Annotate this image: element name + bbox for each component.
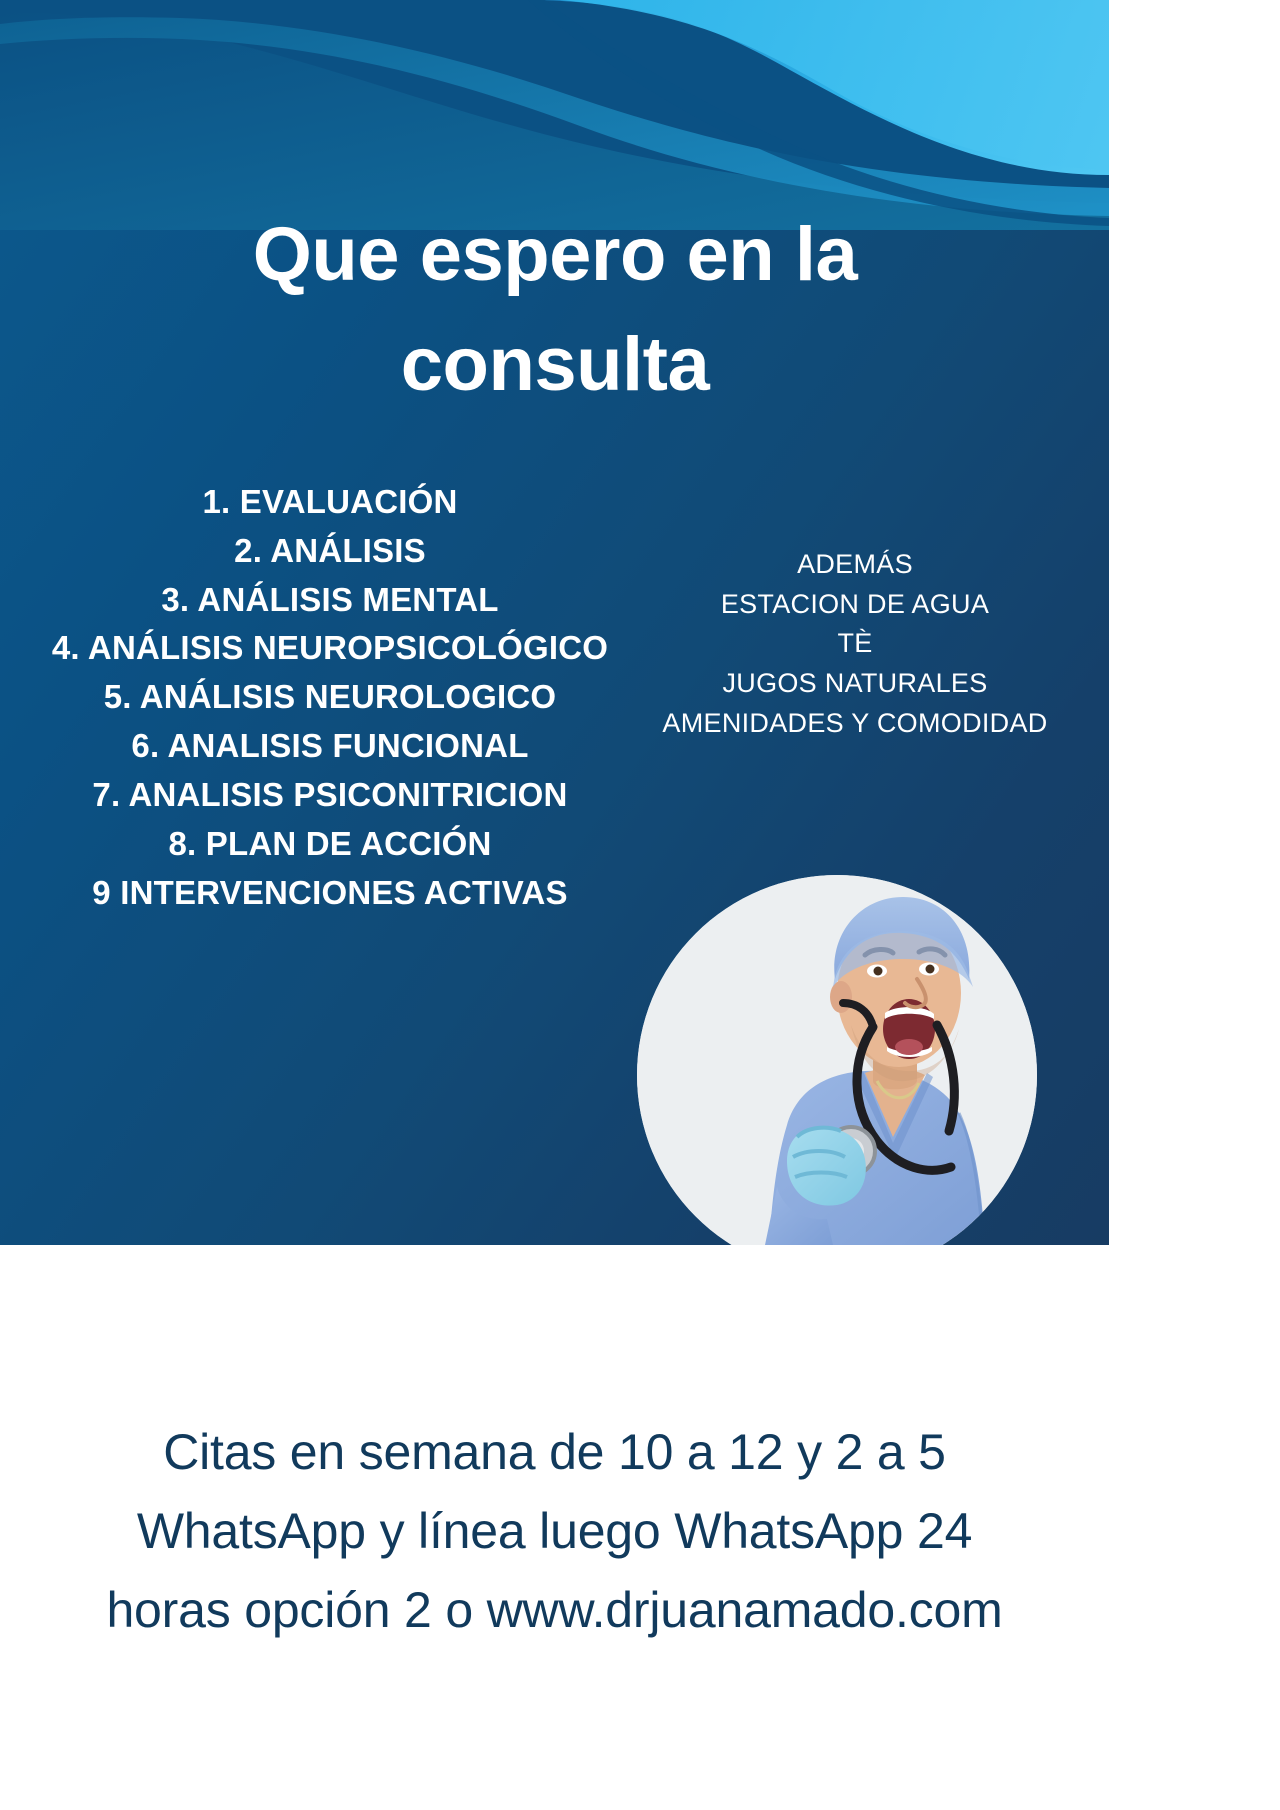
step-item: 8. PLAN DE ACCIÓN [0,820,660,869]
blue-background-panel: Que espero en la consulta 1. EVALUACIÓN … [0,0,1109,1245]
contact-line-1: Citas en semana de 10 a 12 y 2 a 5 [30,1413,1079,1492]
extras-item: ESTACION DE AGUA [620,585,1090,625]
step-item: 4. ANÁLISIS NEUROPSICOLÓGICO [0,624,660,673]
consultation-steps-list: 1. EVALUACIÓN 2. ANÁLISIS 3. ANÁLISIS ME… [0,478,660,917]
doctor-photo [637,875,1037,1245]
step-item: 3. ANÁLISIS MENTAL [0,576,660,625]
step-item: 2. ANÁLISIS [0,527,660,576]
extras-heading: ADEMÁS [620,545,1090,585]
extras-item: JUGOS NATURALES [620,664,1090,704]
wave-decoration-icon [0,0,1109,230]
extras-item: TÈ [620,624,1090,664]
footer-panel: Citas en semana de 10 a 12 y 2 a 5 Whats… [0,1245,1109,1810]
step-item: 7. ANALISIS PSICONITRICION [0,771,660,820]
title-line-1: Que espero en la [90,200,1020,310]
title-line-2: consulta [90,310,1020,420]
doctor-illustration-icon [637,875,1037,1245]
extras-list: ADEMÁS ESTACION DE AGUA TÈ JUGOS NATURAL… [620,545,1090,743]
contact-line-3: horas opción 2 o www.drjuanamado.com [30,1571,1079,1650]
extras-item: AMENIDADES Y COMODIDAD [620,704,1090,744]
step-item: 6. ANALISIS FUNCIONAL [0,722,660,771]
poster-title: Que espero en la consulta [90,200,1020,420]
step-item: 1. EVALUACIÓN [0,478,660,527]
step-item: 5. ANÁLISIS NEUROLOGICO [0,673,660,722]
contact-line-2: WhatsApp y línea luego WhatsApp 24 [30,1492,1079,1571]
poster-root: Que espero en la consulta 1. EVALUACIÓN … [0,0,1109,1810]
contact-info: Citas en semana de 10 a 12 y 2 a 5 Whats… [30,1413,1079,1650]
step-item: 9 INTERVENCIONES ACTIVAS [0,869,660,918]
